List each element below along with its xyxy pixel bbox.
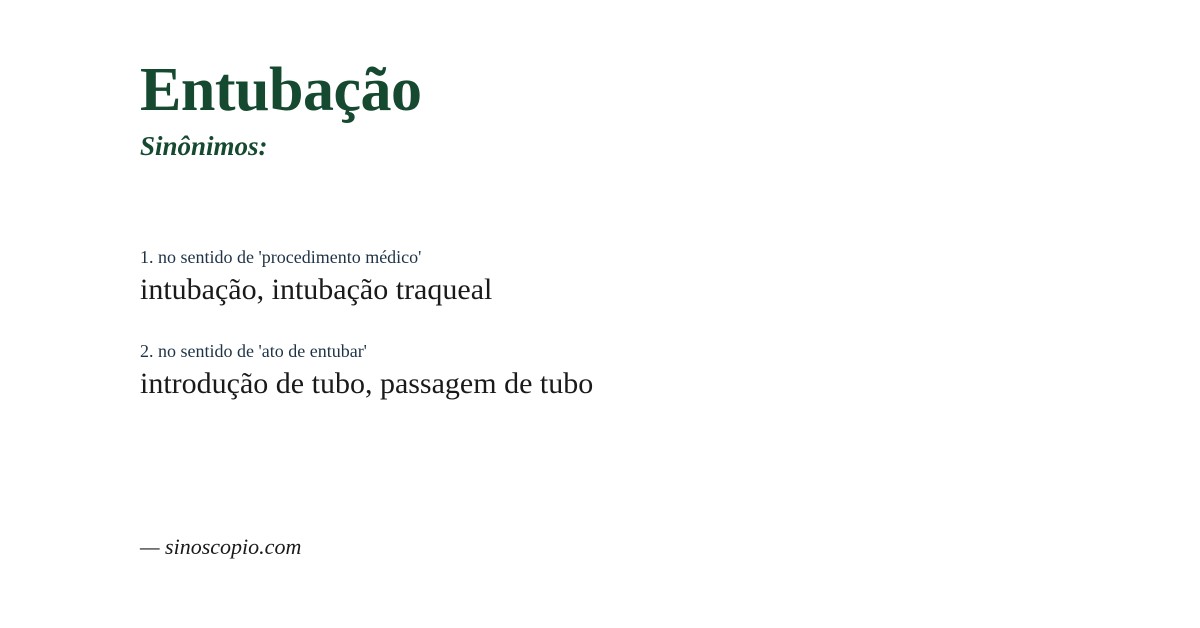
sense-label: 2. no sentido de 'ato de entubar' [140, 340, 1140, 363]
sense-entry: 2. no sentido de 'ato de entubar' introd… [140, 340, 1140, 404]
section-subtitle: Sinônimos: [140, 130, 421, 162]
sense-synonyms: intubação, intubação traqueal [140, 271, 1140, 309]
sense-synonyms: introdução de tubo, passagem de tubo [140, 365, 1140, 403]
synonym-card: Entubação Sinônimos: 1. no sentido de 'p… [0, 0, 1200, 628]
card-footer: — sinoscopio.com [140, 534, 301, 560]
source-attribution: — sinoscopio.com [140, 534, 301, 560]
sense-label: 1. no sentido de 'procedimento médico' [140, 246, 1140, 269]
card-header: Entubação Sinônimos: [140, 58, 421, 162]
senses-list: 1. no sentido de 'procedimento médico' i… [140, 246, 1140, 404]
page-title: Entubação [140, 58, 421, 124]
sense-entry: 1. no sentido de 'procedimento médico' i… [140, 246, 1140, 310]
